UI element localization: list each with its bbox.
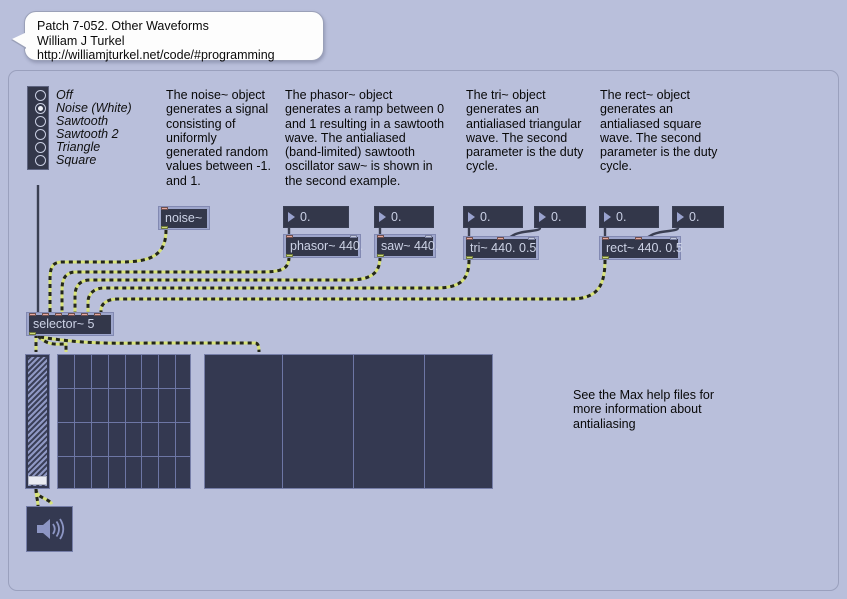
numberbox-phasor-freq[interactable]: 0. (283, 206, 349, 228)
inlet-1[interactable] (42, 313, 49, 316)
comment-tri: The tri~ object generates an antialiased… (466, 88, 584, 174)
inlet-1[interactable] (635, 237, 642, 240)
scope-grid-vline (282, 355, 283, 488)
numberbox-value: 0. (551, 210, 561, 224)
balloon-tail-icon (12, 32, 27, 48)
radio-ring-0 (35, 90, 46, 101)
radio-option-0[interactable] (32, 90, 48, 101)
outlet-0[interactable] (377, 254, 384, 257)
object-label: saw~ 440. (377, 237, 433, 256)
inlet-0[interactable] (377, 235, 384, 238)
inlet-0[interactable] (466, 237, 473, 240)
outlet-0[interactable] (29, 332, 36, 335)
numberbox-value: 0. (689, 210, 699, 224)
numberbox-value: 0. (616, 210, 626, 224)
radio-label-5: Square (56, 154, 132, 167)
outlet-0[interactable] (161, 226, 168, 229)
scope-display-right[interactable] (204, 354, 493, 489)
radio-option-1[interactable] (32, 103, 48, 114)
object-label: tri~ 440. 0.5 (466, 239, 536, 258)
waveform-radio-labels: Off Noise (White) Sawtooth Sawtooth 2 Tr… (56, 89, 132, 167)
radio-ring-2 (35, 116, 46, 127)
object-phasor[interactable]: phasor~ 440. (283, 234, 361, 258)
inlet-3[interactable] (68, 313, 75, 316)
numberbox-triangle-icon (604, 212, 611, 222)
outlet-0[interactable] (602, 256, 609, 259)
radio-ring-5 (35, 155, 46, 166)
numberbox-value: 0. (391, 210, 401, 224)
numberbox-triangle-icon (288, 212, 295, 222)
balloon-line-url: http://williamjturkel.net/code/#programm… (37, 48, 311, 63)
comment-phasor: The phasor~ object generates a ramp betw… (285, 88, 445, 188)
ezdac-speaker[interactable] (26, 506, 73, 552)
scope-grid-hline (58, 456, 190, 457)
outlet-0[interactable] (286, 254, 293, 257)
comment-rect: The rect~ object generates an antialiase… (600, 88, 718, 174)
object-tri[interactable]: tri~ 440. 0.5 (463, 236, 539, 260)
inlet-5[interactable] (94, 313, 101, 316)
numberbox-triangle-icon (379, 212, 386, 222)
inlet-0[interactable] (286, 235, 293, 238)
gain-handle[interactable] (28, 476, 47, 485)
scope-grid-vline (424, 355, 425, 488)
object-noise[interactable]: noise~ (158, 206, 210, 230)
object-selector[interactable]: selector~ 5 (26, 312, 114, 336)
balloon-line-title: Patch 7-052. Other Waveforms (37, 19, 311, 34)
inlet-2[interactable] (528, 237, 535, 240)
inlet-2[interactable] (55, 313, 62, 316)
scope-grid-hline (58, 422, 190, 423)
inlet-0[interactable] (602, 237, 609, 240)
radio-option-2[interactable] (32, 116, 48, 127)
numberbox-saw-freq[interactable]: 0. (374, 206, 434, 228)
waveform-radio-group[interactable] (27, 86, 49, 170)
balloon-line-author: William J Turkel (37, 34, 311, 49)
object-label: selector~ 5 (29, 315, 111, 334)
inlet-0[interactable] (161, 207, 168, 210)
radio-option-4[interactable] (32, 142, 48, 153)
comment-noise: The noise~ object generates a signal con… (166, 88, 272, 188)
outlet-0[interactable] (466, 256, 473, 259)
comment-help: See the Max help files for more informat… (573, 388, 725, 431)
patch-info-balloon: Patch 7-052. Other Waveforms William J T… (24, 11, 324, 61)
radio-option-3[interactable] (32, 129, 48, 140)
radio-ring-1 (35, 103, 46, 114)
inlet-2[interactable] (670, 237, 677, 240)
scope-grid-vline (353, 355, 354, 488)
radio-ring-4 (35, 142, 46, 153)
speaker-icon (34, 515, 66, 543)
numberbox-rect-duty[interactable]: 0. (672, 206, 724, 228)
scope-meter-left[interactable] (57, 354, 191, 489)
radio-ring-3 (35, 129, 46, 140)
numberbox-triangle-icon (539, 212, 546, 222)
numberbox-rect-freq[interactable]: 0. (599, 206, 659, 228)
numberbox-triangle-icon (468, 212, 475, 222)
numberbox-tri-duty[interactable]: 0. (534, 206, 586, 228)
object-label: phasor~ 440. (286, 237, 358, 256)
inlet-1[interactable] (425, 235, 432, 238)
gain-slider[interactable] (25, 354, 50, 489)
numberbox-value: 0. (300, 210, 310, 224)
inlet-0[interactable] (29, 313, 36, 316)
object-saw[interactable]: saw~ 440. (374, 234, 436, 258)
numberbox-triangle-icon (677, 212, 684, 222)
object-rect[interactable]: rect~ 440. 0.5 (599, 236, 681, 260)
object-label: rect~ 440. 0.5 (602, 239, 678, 258)
inlet-1[interactable] (497, 237, 504, 240)
scope-grid-hline (58, 388, 190, 389)
numberbox-value: 0. (480, 210, 490, 224)
radio-option-5[interactable] (32, 155, 48, 166)
inlet-4[interactable] (81, 313, 88, 316)
numberbox-tri-freq[interactable]: 0. (463, 206, 523, 228)
inlet-1[interactable] (350, 235, 357, 238)
max-patcher-window: Patch 7-052. Other Waveforms William J T… (0, 0, 847, 599)
gain-hatch-fill (28, 357, 47, 486)
